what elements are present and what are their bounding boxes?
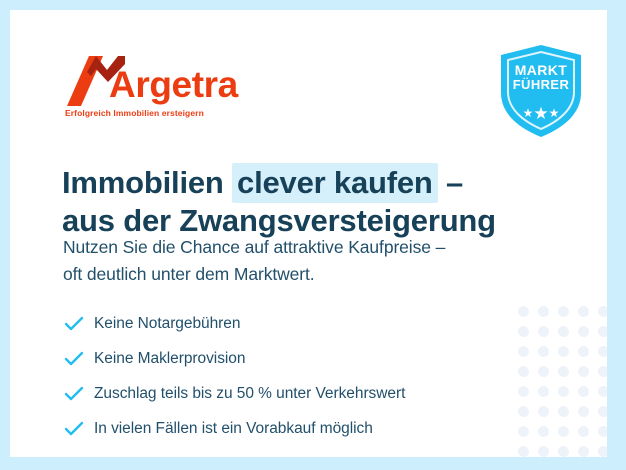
- list-item: Keine Maklerprovision: [64, 343, 534, 374]
- headline-highlight: clever kaufen: [232, 163, 438, 203]
- dot: [558, 426, 569, 437]
- dot: [598, 446, 607, 457]
- dot: [538, 326, 549, 337]
- dot: [578, 326, 589, 337]
- logo-tagline: Erfolgreich Immobilien ersteigern: [65, 108, 204, 118]
- badge-line-1: MARKT: [497, 63, 585, 78]
- dot: [538, 386, 549, 397]
- check-icon: [64, 419, 94, 439]
- badge-line-2: FÜHRER: [497, 78, 585, 92]
- dot: [598, 346, 607, 357]
- dot: [538, 406, 549, 417]
- benefit-list: Keine Notargebühren Keine Maklerprovisio…: [64, 308, 534, 448]
- dot: [538, 446, 549, 457]
- dot: [578, 446, 589, 457]
- list-item-label: In vielen Fällen ist ein Vorabkauf mögli…: [94, 420, 373, 438]
- list-item: Keine Notargebühren: [64, 308, 534, 339]
- subheadline: Nutzen Sie die Chance auf attraktive Kau…: [63, 234, 543, 287]
- dot: [578, 426, 589, 437]
- logo-wordmark: Argetra: [109, 66, 238, 103]
- dot: [558, 346, 569, 357]
- check-icon: [64, 314, 94, 334]
- star-icon-2: ★: [533, 104, 548, 123]
- promo-banner: Argetra Erfolgreich Immobilien ersteiger…: [0, 0, 626, 470]
- dot: [598, 426, 607, 437]
- list-item-label: Keine Maklerprovision: [94, 350, 245, 368]
- dot: [598, 326, 607, 337]
- dot: [538, 426, 549, 437]
- badge-stars: ★★★: [497, 105, 585, 122]
- headline-prefix: Immobilien: [62, 165, 232, 200]
- dot: [598, 406, 607, 417]
- dot: [558, 446, 569, 457]
- subheadline-line-2: oft deutlich unter dem Marktwert.: [63, 261, 543, 288]
- dot: [578, 406, 589, 417]
- list-item: In vielen Fällen ist ein Vorabkauf mögli…: [64, 413, 534, 444]
- star-icon-1: ★: [523, 106, 534, 120]
- dot: [558, 406, 569, 417]
- shield-badge-icon: MARKT FÜHRER ★★★: [497, 43, 585, 139]
- dot: [598, 306, 607, 317]
- dot: [578, 366, 589, 377]
- dot: [538, 306, 549, 317]
- promo-card: Argetra Erfolgreich Immobilien ersteiger…: [10, 10, 607, 457]
- dot: [598, 366, 607, 377]
- subheadline-line-1: Nutzen Sie die Chance auf attraktive Kau…: [63, 234, 543, 261]
- star-icon-3: ★: [549, 106, 560, 120]
- list-item-label: Zuschlag teils bis zu 50 % unter Verkehr…: [94, 385, 405, 403]
- dot: [558, 366, 569, 377]
- dot: [558, 306, 569, 317]
- badge-text: MARKT FÜHRER: [497, 63, 585, 92]
- dot: [598, 386, 607, 397]
- dot: [578, 306, 589, 317]
- check-icon: [64, 349, 94, 369]
- dot: [578, 346, 589, 357]
- list-item: Zuschlag teils bis zu 50 % unter Verkehr…: [64, 378, 534, 409]
- argetra-logo: Argetra Erfolgreich Immobilien ersteiger…: [65, 54, 255, 120]
- dot: [538, 346, 549, 357]
- headline-line-1: Immobilien clever kaufen –: [62, 164, 532, 202]
- dot: [578, 386, 589, 397]
- list-item-label: Keine Notargebühren: [94, 315, 240, 333]
- dot: [558, 386, 569, 397]
- headline-suffix: –: [438, 165, 463, 200]
- dot: [558, 326, 569, 337]
- page-title: Immobilien clever kaufen – aus der Zwang…: [62, 164, 532, 240]
- check-icon: [64, 384, 94, 404]
- dot: [538, 366, 549, 377]
